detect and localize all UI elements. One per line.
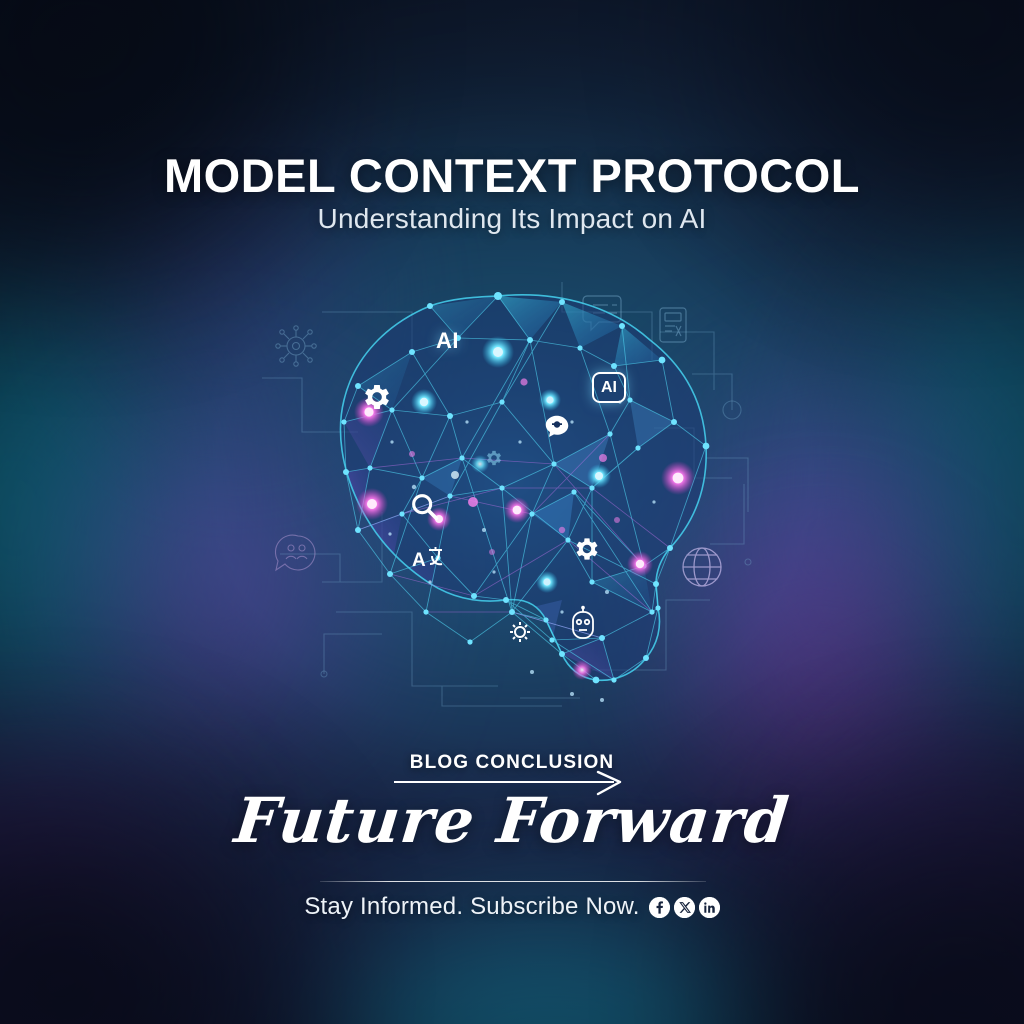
svg-text:A: A	[412, 550, 426, 571]
linkedin-icon[interactable]	[699, 897, 720, 918]
ai-brain-illustration: AI AI A	[262, 282, 762, 712]
chat-bubble-icon	[542, 412, 572, 442]
cta-text: Stay Informed. Subscribe Now.	[304, 893, 639, 921]
ai-text-label: AI	[436, 328, 459, 354]
x-twitter-icon[interactable]	[674, 897, 695, 918]
footer-divider	[320, 881, 706, 882]
settings-gear-bottom-icon	[506, 618, 534, 646]
page-title: MODEL CONTEXT PROTOCOL	[0, 148, 1024, 203]
facebook-icon[interactable]	[649, 897, 670, 918]
robot-head-icon	[568, 606, 598, 642]
script-headline: Future Forward	[0, 784, 1024, 857]
gear-right-icon	[572, 534, 602, 564]
brain-network-mesh	[262, 282, 762, 712]
gear-small-icon	[484, 448, 504, 468]
translate-icon: A	[412, 544, 446, 572]
page-subtitle: Understanding Its Impact on AI	[0, 203, 1024, 235]
poster-canvas: MODEL CONTEXT PROTOCOL Understanding Its…	[0, 0, 1024, 1024]
gear-icon	[360, 380, 394, 414]
subscribe-cta-row: Stay Informed. Subscribe Now.	[0, 893, 1024, 921]
ai-boxed-icon: AI	[592, 372, 626, 403]
social-links	[649, 897, 720, 918]
search-icon	[408, 490, 442, 524]
